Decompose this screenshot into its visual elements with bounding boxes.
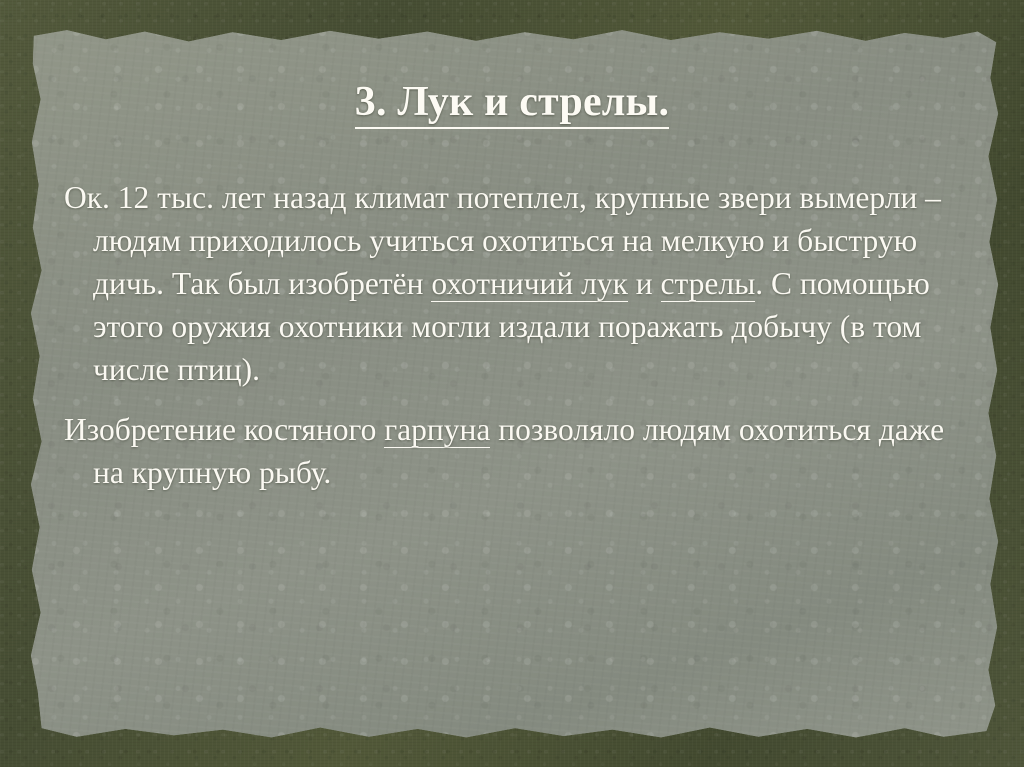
slide-canvas: 3. Лук и стрелы. Ок. 12 тыс. лет назад к… xyxy=(0,0,1024,767)
slide-content: 3. Лук и стрелы. Ок. 12 тыс. лет назад к… xyxy=(0,0,1024,767)
paragraph-1-run-2: и xyxy=(628,266,661,301)
body-text-block: Ок. 12 тыс. лет назад климат потеплел, к… xyxy=(64,176,956,494)
paragraph-1-run-1-underlined: охотничий лук xyxy=(431,266,628,302)
paragraph-1: Ок. 12 тыс. лет назад климат потеплел, к… xyxy=(64,176,956,391)
paragraph-2: Изобретение костяного гарпуна позволяло … xyxy=(64,408,956,494)
page-title: 3. Лук и стрелы. xyxy=(0,80,1024,124)
page-title-text: 3. Лук и стрелы. xyxy=(355,79,670,129)
paragraph-2-run-1-underlined: гарпуна xyxy=(384,412,490,448)
paragraph-2-run-0: Изобретение костяного xyxy=(64,412,384,447)
paragraph-1-run-3-underlined: стрелы xyxy=(661,266,756,302)
